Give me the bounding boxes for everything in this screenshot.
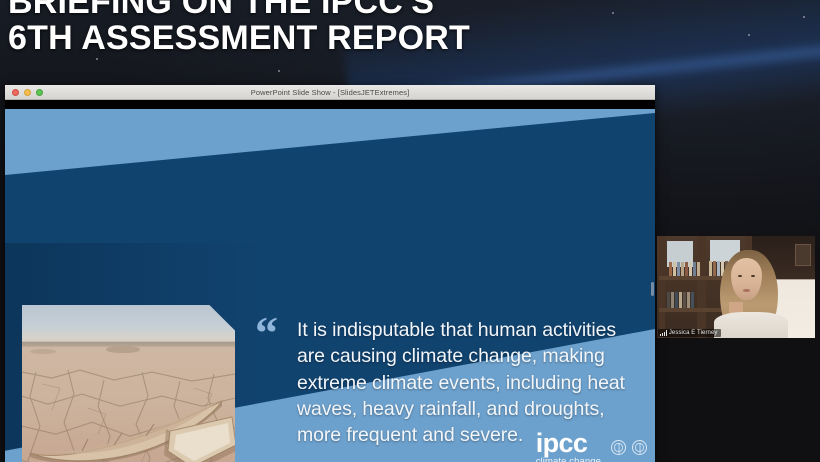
person-mouth	[743, 289, 750, 291]
person-shirt	[714, 312, 788, 338]
window-controls[interactable]	[12, 89, 43, 96]
book-row	[667, 292, 694, 308]
picture-frame	[795, 244, 811, 266]
close-button[interactable]	[12, 89, 19, 96]
shelf-post	[697, 236, 706, 338]
signal-strength-icon	[660, 330, 667, 336]
window-titlebar[interactable]: PowerPoint Slide Show - [SlidesJETExtrem…	[5, 85, 655, 100]
unep-emblem-icon	[632, 440, 647, 455]
shelf-post	[659, 236, 665, 338]
drought-photo	[22, 305, 235, 462]
headline-line-2: 6TH ASSESSMENT REPORT	[8, 20, 648, 56]
participant-name: Jessica E Tierney	[669, 330, 718, 336]
star-speck	[803, 16, 805, 18]
webcam-resize-handle[interactable]	[651, 282, 654, 296]
slide-letterbox-top	[5, 100, 655, 109]
ipcc-wordmark-group: ipcc climate change	[536, 432, 601, 462]
un-emblems	[611, 440, 647, 462]
star-speck	[278, 70, 280, 72]
ipcc-logo: ipcc climate change	[536, 432, 647, 462]
quote-text: It is indisputable that human activities…	[297, 317, 645, 449]
powerpoint-window[interactable]: PowerPoint Slide Show - [SlidesJETExtrem…	[5, 85, 655, 462]
wooden-boat-small	[162, 411, 235, 462]
window-title: PowerPoint Slide Show - [SlidesJETExtrem…	[5, 88, 655, 97]
minimize-button[interactable]	[24, 89, 31, 96]
star-speck	[96, 58, 98, 60]
star-speck	[748, 34, 750, 36]
book-row	[669, 262, 700, 276]
maximize-button[interactable]	[36, 89, 43, 96]
headline-line-1: BRIEFING ON THE IPCC'S	[8, 0, 648, 20]
person-eye	[738, 275, 742, 277]
ipcc-wordmark: ipcc	[536, 432, 588, 455]
broadcast-headline: BRIEFING ON THE IPCC'S 6TH ASSESSMENT RE…	[8, 0, 648, 57]
screen-capture: BRIEFING ON THE IPCC'S 6TH ASSESSMENT RE…	[0, 0, 820, 462]
person-eye	[751, 275, 755, 277]
wmo-emblem-icon	[611, 440, 626, 455]
slide-canvas[interactable]: ©Unsplash / Nadia Bukhanova / @nadiabukh…	[5, 109, 655, 462]
participant-name-badge: Jessica E Tierney	[658, 329, 721, 337]
ipcc-tagline: climate change	[536, 457, 601, 462]
webcam-video-feed: Jessica E Tierney	[657, 236, 815, 338]
webcam-panel[interactable]: Jessica E Tierney	[657, 236, 815, 338]
quotation-mark-icon: “	[255, 315, 278, 352]
